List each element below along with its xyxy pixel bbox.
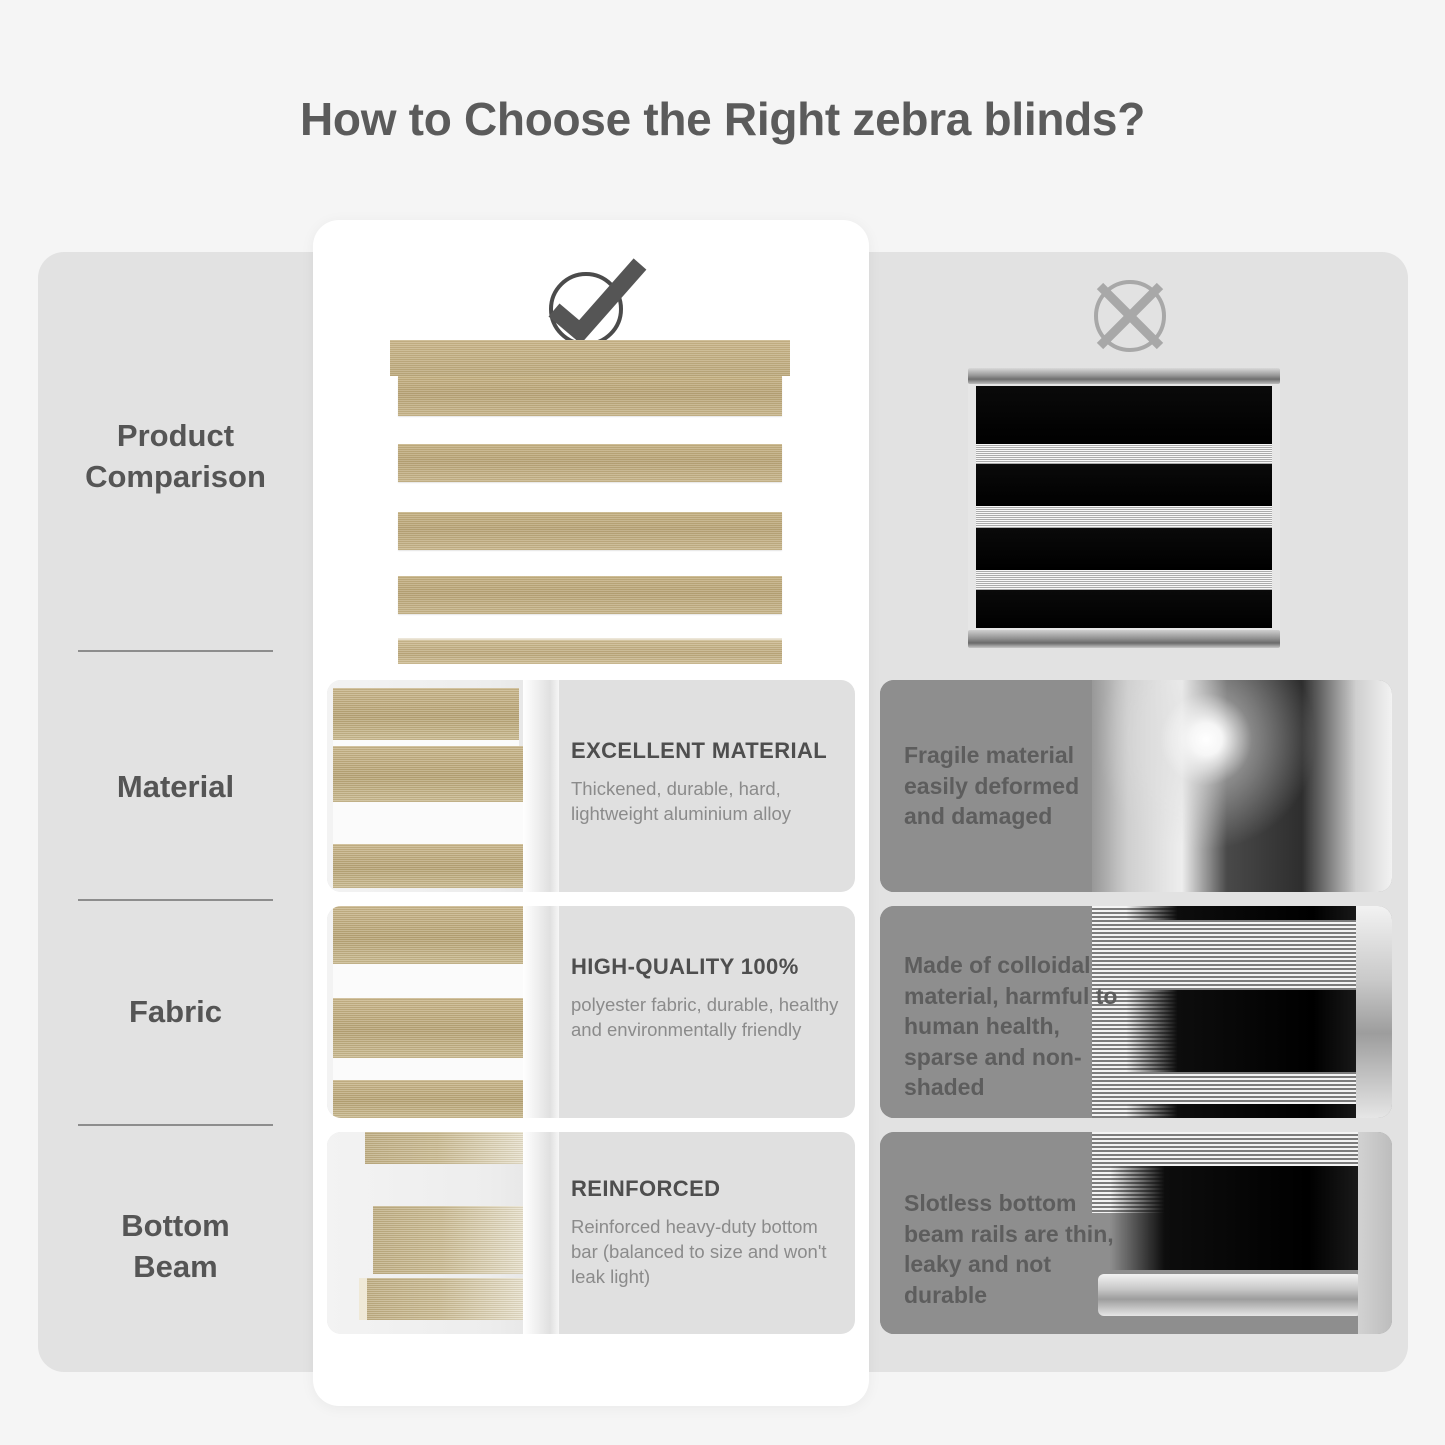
blind-slat <box>398 376 782 416</box>
black-band <box>976 464 1272 506</box>
category-sidebar: Product Comparison Material Fabric Botto… <box>38 252 313 1372</box>
black-band <box>976 590 1272 628</box>
card-bad-fabric: Made of colloidal material, harmful to h… <box>880 906 1392 1118</box>
sidebar-item-fabric: Fabric <box>38 982 313 1042</box>
card-good-fabric: HIGH-QUALITY 100% polyester fabric, dura… <box>327 906 855 1118</box>
card-bad-material: Fragile material easily deformed and dam… <box>880 680 1392 892</box>
card-text-fragile-material: Fragile material easily deformed and dam… <box>904 740 1114 832</box>
card-good-bottom-beam: REINFORCED Reinforced heavy-duty bottom … <box>327 1132 855 1334</box>
image-sparse-black-fabric <box>1092 906 1392 1118</box>
sidebar-label-fabric: Fabric <box>129 992 222 1033</box>
hero-image-tan-zebra-blind <box>390 340 790 665</box>
black-band <box>976 528 1272 570</box>
blind-headrail <box>390 340 790 376</box>
sidebar-item-product-comparison: Product Comparison <box>38 392 313 522</box>
sidebar-divider-2 <box>78 899 273 901</box>
card-title-reinforced: REINFORCED <box>571 1176 847 1202</box>
sidebar-item-bottom-beam: Bottom Beam <box>38 1182 313 1312</box>
black-band <box>976 386 1272 444</box>
check-circle-icon <box>530 252 660 352</box>
sidebar-divider-1 <box>78 650 273 652</box>
blind-bottom-rail <box>398 638 782 664</box>
card-text-slotless-bottom-beam: Slotless bottom beam rails are thin, lea… <box>904 1188 1140 1310</box>
sidebar-label-product-comparison: Product Comparison <box>85 416 266 498</box>
sidebar-item-material: Material <box>38 757 313 817</box>
image-tan-blind-window-frame <box>327 680 559 892</box>
image-sunlight-leaking-window <box>1092 680 1392 892</box>
sheer-band <box>976 570 1272 590</box>
sheer-band <box>976 444 1272 464</box>
card-bad-bottom-beam: Slotless bottom beam rails are thin, lea… <box>880 1132 1392 1334</box>
sidebar-label-material: Material <box>117 767 234 808</box>
image-reinforced-bottom-beam <box>327 1132 559 1334</box>
black-blind-headrail <box>968 368 1280 384</box>
card-text-colloidal-material: Made of colloidal material, harmful to h… <box>904 950 1136 1103</box>
infographic-root: How to Choose the Right zebra blinds? Pr… <box>0 0 1445 1445</box>
blind-slat <box>398 512 782 550</box>
blind-slat <box>398 444 782 482</box>
sidebar-label-bottom-beam: Bottom Beam <box>121 1206 229 1288</box>
card-desc-reinforced: Reinforced heavy-duty bottom bar (balanc… <box>571 1214 847 1289</box>
card-desc-high-quality: polyester fabric, durable, healthy and e… <box>571 992 843 1042</box>
page-title: How to Choose the Right zebra blinds? <box>0 92 1445 146</box>
sidebar-divider-3 <box>78 1124 273 1126</box>
hero-image-black-zebra-blind <box>968 368 1280 648</box>
card-title-excellent-material: EXCELLENT MATERIAL <box>571 738 841 764</box>
image-tan-blind-fabric <box>327 906 559 1118</box>
blind-slat <box>398 576 782 614</box>
cross-circle-icon <box>1078 268 1182 364</box>
card-good-material: EXCELLENT MATERIAL Thickened, durable, h… <box>327 680 855 892</box>
card-desc-excellent-material: Thickened, durable, hard, lightweight al… <box>571 776 841 826</box>
card-title-high-quality: HIGH-QUALITY 100% <box>571 954 843 980</box>
sheer-band <box>976 506 1272 528</box>
black-blind-bottom-rail <box>968 630 1280 648</box>
